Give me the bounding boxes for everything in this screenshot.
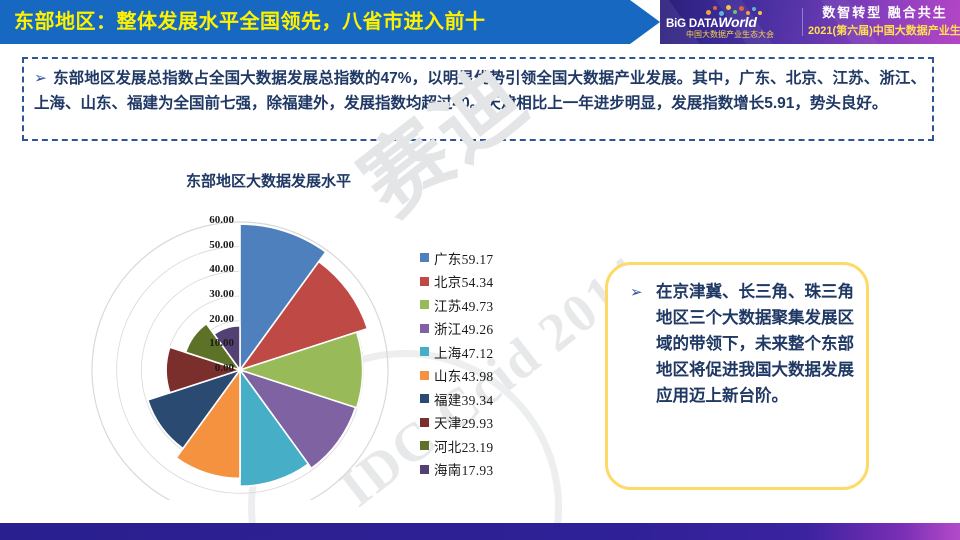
logo-subtitle: 中国大数据产业生态大会 bbox=[666, 29, 794, 40]
bigdata-world-logo: BiG DATAWorld 中国大数据产业生态大会 bbox=[666, 4, 794, 40]
conclusion-text: 在京津冀、长三角、珠三角地区三个大数据聚集发展区域的带领下，未来整个东部地区将促… bbox=[656, 279, 854, 409]
summary-text: 东部地区发展总指数占全国大数据发展总指数的47%，以明显优势引领全国大数据产业发… bbox=[34, 70, 926, 112]
note-bullet-arrow-icon: ➢ bbox=[630, 285, 643, 300]
legend-swatch-icon bbox=[420, 418, 429, 427]
chart-radial-tick: 0.00 bbox=[178, 362, 234, 374]
chart-radial-tick: 60.00 bbox=[178, 214, 234, 226]
polar-area-chart: 0.0010.0020.0030.0040.0050.0060.00 bbox=[90, 200, 400, 500]
chart-radial-tick: 10.00 bbox=[178, 337, 234, 349]
legend-swatch-icon bbox=[420, 253, 429, 262]
legend-item[interactable]: 山东43.98 bbox=[420, 364, 550, 388]
legend-item[interactable]: 江苏49.73 bbox=[420, 293, 550, 317]
legend-swatch-icon bbox=[420, 300, 429, 309]
header-divider bbox=[802, 8, 803, 36]
summary-callout: ➢东部地区发展总指数占全国大数据发展总指数的47%，以明显优势引领全国大数据产业… bbox=[22, 57, 934, 141]
chart-radial-tick: 30.00 bbox=[178, 288, 234, 300]
legend-swatch-icon bbox=[420, 347, 429, 356]
chart-legend: 广东59.17北京54.34江苏49.73浙江49.26上海47.12山东43.… bbox=[420, 246, 550, 481]
legend-swatch-icon bbox=[420, 465, 429, 474]
legend-label: 山东43.98 bbox=[434, 365, 493, 385]
legend-label: 广东59.17 bbox=[434, 248, 493, 268]
chart-radial-tick: 40.00 bbox=[178, 263, 234, 275]
legend-item[interactable]: 上海47.12 bbox=[420, 340, 550, 364]
legend-swatch-icon bbox=[420, 394, 429, 403]
legend-label: 河北23.19 bbox=[434, 436, 493, 456]
legend-swatch-icon bbox=[420, 441, 429, 450]
legend-label: 天津29.93 bbox=[434, 412, 493, 432]
legend-item[interactable]: 福建39.34 bbox=[420, 387, 550, 411]
slide-footer-bar bbox=[0, 523, 960, 540]
logo-wordmark: BiG DATAWorld bbox=[666, 15, 794, 29]
conclusion-callout: ➢ 在京津冀、长三角、珠三角地区三个大数据聚集发展区域的带领下，未来整个东部地区… bbox=[605, 262, 869, 490]
slide-header: 东部地区：整体发展水平全国领先，八省市进入前十 BiG DATAWorld bbox=[0, 0, 960, 44]
header-tagline: 数智转型 融合共生 bbox=[812, 4, 958, 22]
legend-label: 浙江49.26 bbox=[434, 318, 493, 338]
legend-item[interactable]: 河北23.19 bbox=[420, 434, 550, 458]
chart-radial-tick: 50.00 bbox=[178, 239, 234, 251]
legend-swatch-icon bbox=[420, 324, 429, 333]
legend-swatch-icon bbox=[420, 371, 429, 380]
legend-item[interactable]: 天津29.93 bbox=[420, 411, 550, 435]
legend-label: 北京54.34 bbox=[434, 271, 493, 291]
page-title: 东部地区：整体发展水平全国领先，八省市进入前十 bbox=[14, 0, 486, 44]
legend-label: 江苏49.73 bbox=[434, 295, 493, 315]
summary-text-block: ➢东部地区发展总指数占全国大数据发展总指数的47%，以明显优势引领全国大数据产业… bbox=[34, 66, 926, 116]
slide-canvas: 东部地区：整体发展水平全国领先，八省市进入前十 BiG DATAWorld bbox=[0, 0, 960, 540]
legend-item[interactable]: 浙江49.26 bbox=[420, 317, 550, 341]
header-conference-name: 2021(第六届)中国大数据产业生态大会 bbox=[808, 22, 960, 40]
chart-radial-tick: 20.00 bbox=[178, 313, 234, 325]
legend-swatch-icon bbox=[420, 277, 429, 286]
legend-item[interactable]: 北京54.34 bbox=[420, 270, 550, 294]
legend-label: 上海47.12 bbox=[434, 342, 493, 362]
chart-title: 东部地区大数据发展水平 bbox=[186, 170, 351, 191]
header-conference-banner: BiG DATAWorld 中国大数据产业生态大会 数智转型 融合共生 2021… bbox=[660, 0, 960, 44]
legend-item[interactable]: 海南17.93 bbox=[420, 458, 550, 482]
legend-item[interactable]: 广东59.17 bbox=[420, 246, 550, 270]
chart-radial-axis: 0.0010.0020.0030.0040.0050.0060.00 bbox=[90, 200, 400, 500]
bullet-arrow-icon: ➢ bbox=[34, 66, 47, 91]
legend-label: 福建39.34 bbox=[434, 389, 493, 409]
logo-world-text: World bbox=[718, 14, 756, 30]
legend-label: 海南17.93 bbox=[434, 459, 493, 479]
